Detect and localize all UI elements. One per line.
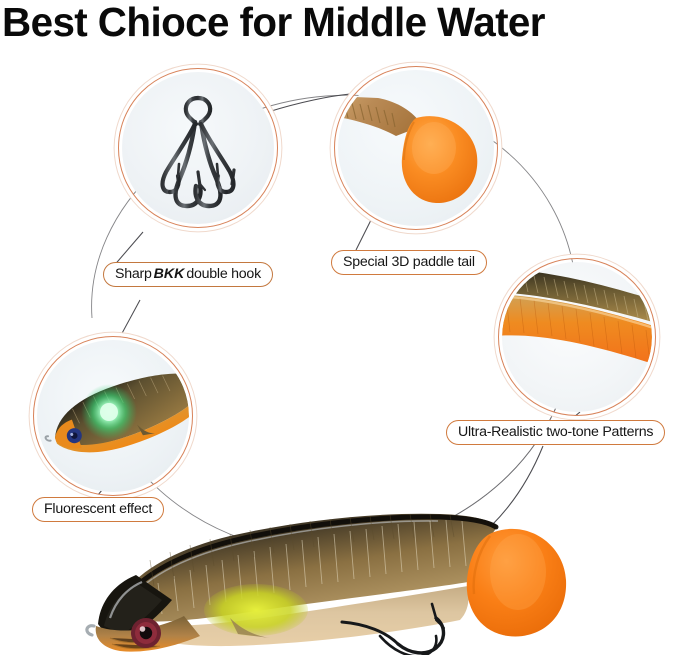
callout-label-hook[interactable]: Sharp BKK double hook bbox=[103, 262, 273, 287]
callout-hook-prefix: Sharp bbox=[115, 267, 152, 281]
paddle-tail-illustration bbox=[338, 70, 494, 226]
callout-fluorescent-text: Fluorescent effect bbox=[44, 502, 152, 516]
callout-label-fluorescent[interactable]: Fluorescent effect bbox=[32, 497, 164, 522]
callout-pattern-text: Ultra-Realistic two-tone Patterns bbox=[458, 425, 653, 439]
callout-label-paddle-tail[interactable]: Special 3D paddle tail bbox=[331, 250, 487, 275]
callout-label-two-tone-pattern[interactable]: Ultra-Realistic two-tone Patterns bbox=[446, 420, 665, 445]
inset-photo-hook bbox=[122, 72, 274, 224]
inset-photo-paddle-tail bbox=[338, 70, 494, 226]
callout-paddle-text: Special 3D paddle tail bbox=[343, 255, 475, 269]
callout-hook-brand: BKK bbox=[152, 267, 187, 281]
two-tone-pattern-illustration bbox=[502, 262, 652, 412]
inset-photo-two-tone-pattern bbox=[502, 262, 652, 412]
main-product-lure bbox=[80, 440, 580, 655]
product-feature-graphic: Best Chioce for Middle Water bbox=[0, 0, 679, 655]
double-hook-illustration bbox=[122, 72, 274, 224]
callout-hook-suffix: double hook bbox=[186, 267, 261, 281]
